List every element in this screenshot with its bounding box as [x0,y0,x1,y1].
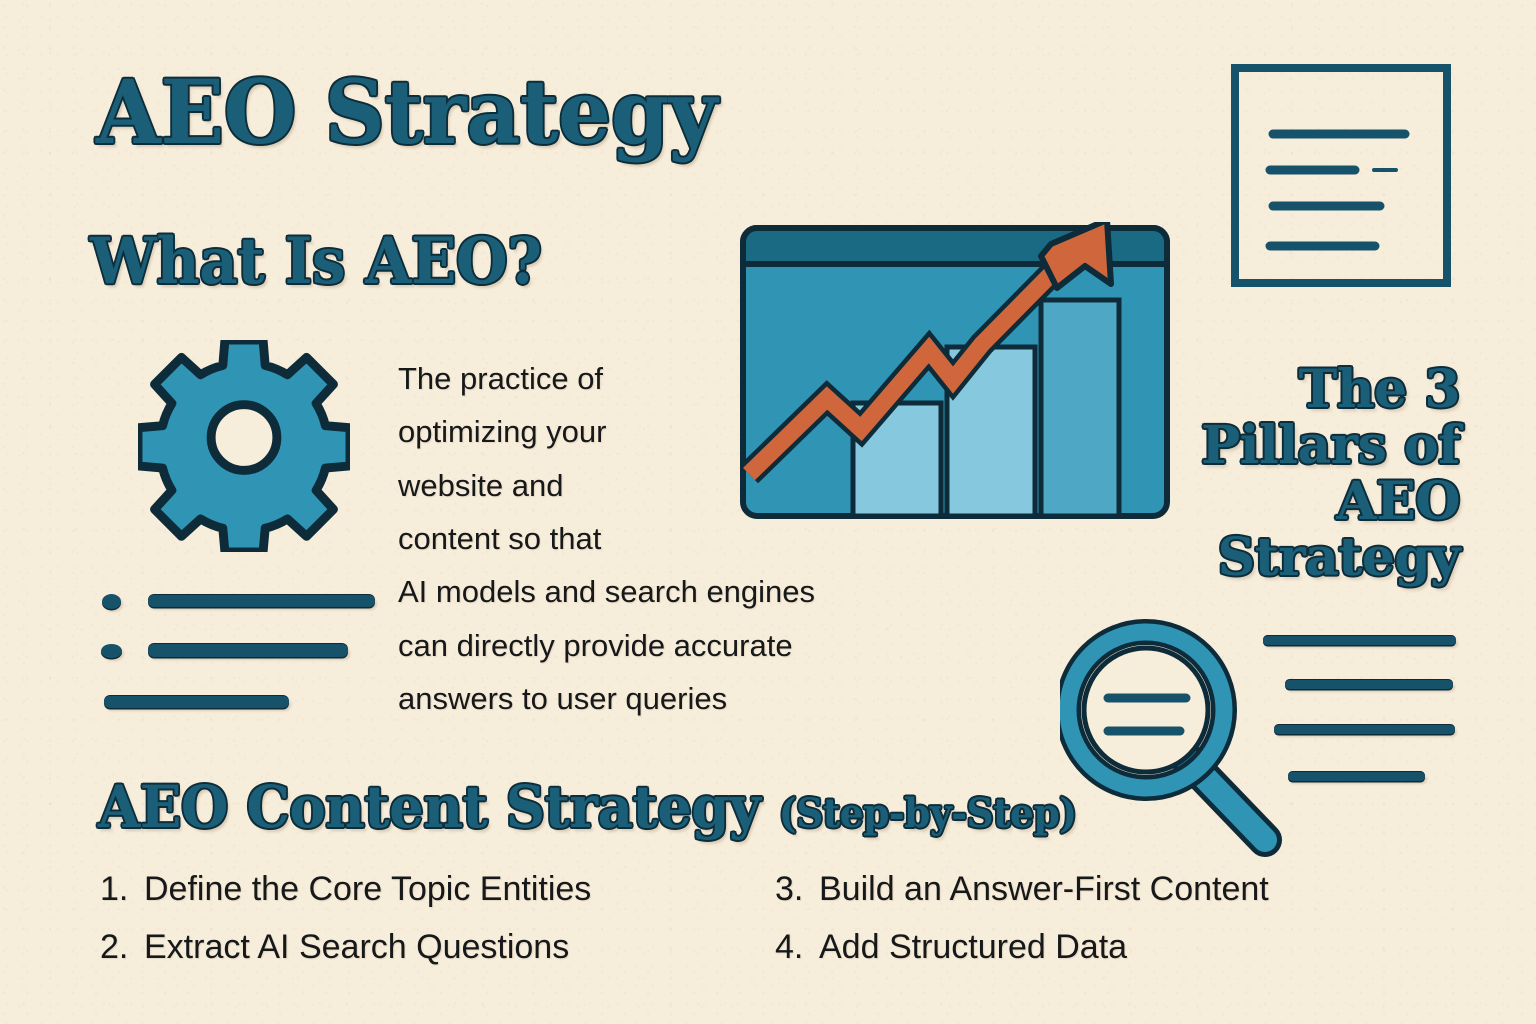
step-number: 4. [775,918,819,976]
pillar-rule [1263,636,1456,645]
step-label: Build an Answer-First Content [819,870,1269,908]
step-label: Define the Core Topic Entities [144,870,591,908]
page-title: AEO Strategy [96,68,717,156]
content-strategy-subtitle: (Step-by-Step) [779,790,1077,837]
bullet-rule [104,696,289,708]
steps-column-right: 3.Build an Answer-First Content 4.Add St… [775,860,1269,977]
definition-line: can directly provide accurate [398,619,978,672]
pillar-rule [1288,772,1425,781]
step-number: 1. [100,860,144,918]
step-number: 3. [775,860,819,918]
step-label: Extract AI Search Questions [144,928,569,966]
gear-icon [138,340,350,552]
growth-chart-illustration [735,222,1175,522]
step-number: 2. [100,918,144,976]
infographic-canvas: AEO Strategy What Is AEO? The practice o… [0,0,1536,1024]
list-item: 1.Define the Core Topic Entities [100,860,591,918]
list-item: 4.Add Structured Data [775,918,1269,976]
list-item: 3.Build an Answer-First Content [775,860,1269,918]
bullet-rule [148,595,375,607]
bullet-rule [148,644,348,657]
definition-line: answers to user queries [398,672,978,725]
definition-line: AI models and search engines [398,565,978,618]
pillars-heading-line-2: Pillars of [1160,418,1460,474]
pillars-rules-decoration [1255,620,1485,800]
bullet-list-decoration [100,588,400,723]
pillar-rule [1274,725,1455,734]
steps-column-left: 1.Define the Core Topic Entities 2.Extra… [100,860,591,977]
bullet-dot [102,594,121,609]
bullet-dot [101,644,122,658]
document-icon [1225,58,1460,298]
pillars-heading-line-3: AEO Strategy [1160,474,1460,586]
list-item: 2.Extract AI Search Questions [100,918,591,976]
content-strategy-title: AEO Content Strategy [98,773,760,841]
section-heading-content-strategy: AEO Content Strategy (Step-by-Step) [98,778,1077,836]
step-label: Add Structured Data [819,928,1127,966]
section-heading-three-pillars: The 3 Pillars of AEO Strategy [1160,362,1460,587]
section-heading-what-is-aeo: What Is AEO? [90,230,542,294]
pillar-rule [1285,680,1453,689]
pillars-heading-line-1: The 3 [1160,362,1460,418]
